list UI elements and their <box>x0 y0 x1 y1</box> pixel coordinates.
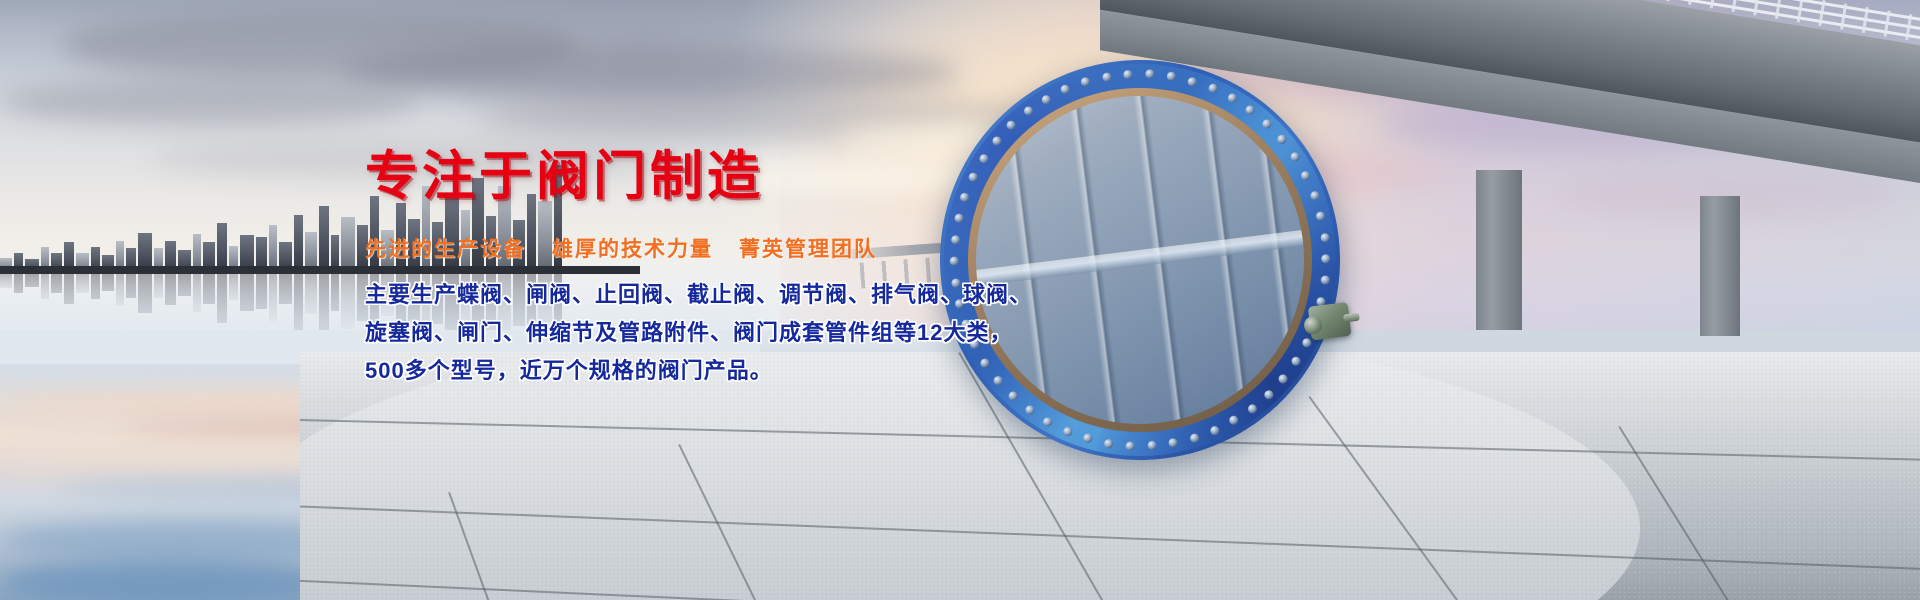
subline-part-3: 菁英管理团队 <box>739 238 877 261</box>
subline: 先进的生产设备雄厚的技术力量菁英管理团队 <box>365 239 985 260</box>
valve-actuator <box>1301 295 1363 353</box>
bridge-pier <box>1476 170 1522 330</box>
actuator-stem <box>1343 313 1360 323</box>
body-copy: 主要生产蝶阀、闸阀、止回阀、截止阀、调节阀、排气阀、球阀、 旋塞阀、闸门、伸缩节… <box>365 276 985 390</box>
banner-copy: 专注于阀门制造 先进的生产设备雄厚的技术力量菁英管理团队 主要生产蝶阀、闸阀、止… <box>365 150 985 390</box>
subline-part-2: 雄厚的技术力量 <box>552 238 713 261</box>
headline: 专注于阀门制造 <box>365 150 985 203</box>
body-line: 500多个型号，近万个规格的阀门产品。 <box>365 352 985 390</box>
water-streak <box>0 560 330 600</box>
cloud <box>340 46 960 100</box>
bridge-pier <box>1700 196 1740 336</box>
butterfly-valve-product <box>940 60 1360 480</box>
body-line: 主要生产蝶阀、闸阀、止回阀、截止阀、调节阀、排气阀、球阀、 <box>365 276 985 314</box>
subline-part-1: 先进的生产设备 <box>365 238 526 261</box>
cloud <box>0 78 420 126</box>
valve-shaft <box>957 228 1323 289</box>
hero-banner: 专注于阀门制造 先进的生产设备雄厚的技术力量菁英管理团队 主要生产蝶阀、闸阀、止… <box>0 0 1920 600</box>
body-line: 旋塞阀、闸门、伸缩节及管路附件、阀门成套管件组等12大类， <box>365 314 985 352</box>
